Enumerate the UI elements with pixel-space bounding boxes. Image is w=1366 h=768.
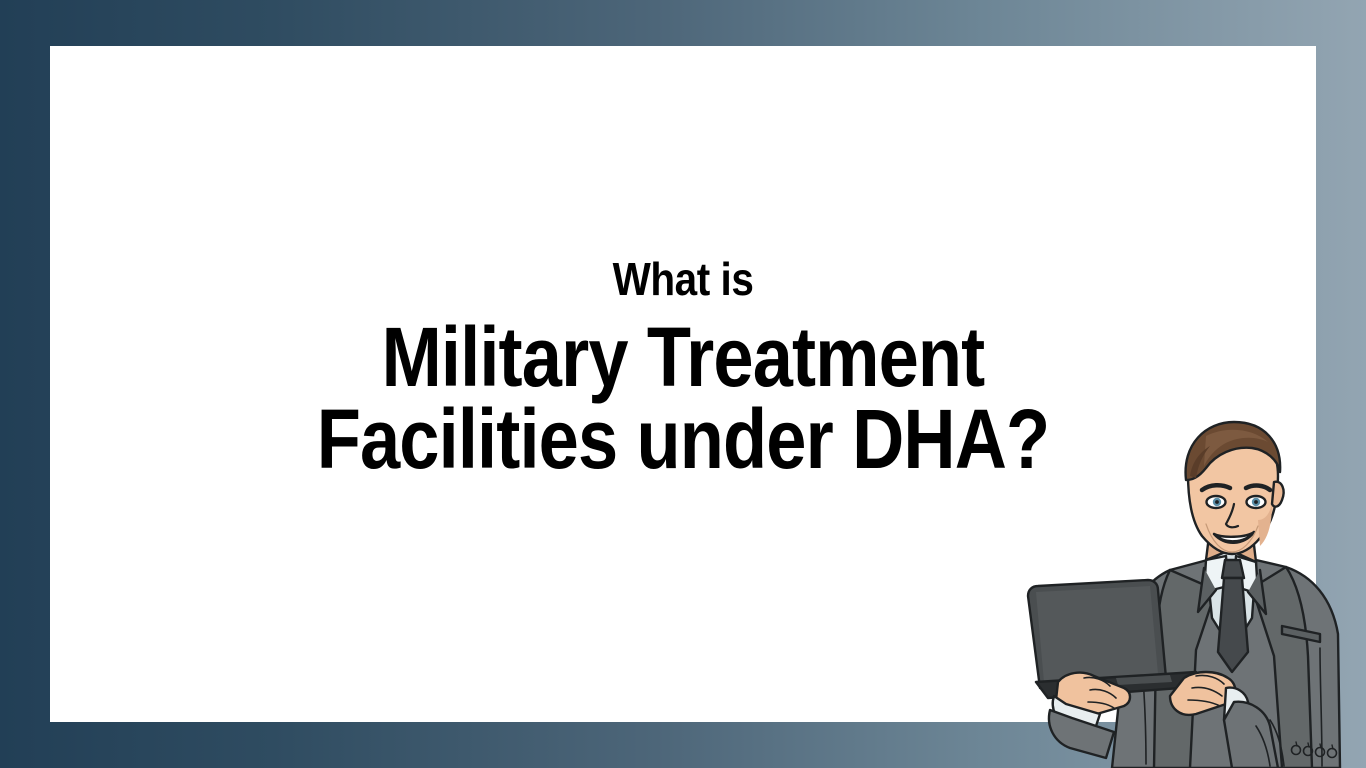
headline-line-2: Facilities under DHA? bbox=[139, 398, 1228, 480]
headline-line-1: Military Treatment bbox=[139, 316, 1228, 398]
eyebrow-text: What is bbox=[126, 256, 1240, 302]
page-title: Military Treatment Facilities under DHA? bbox=[139, 316, 1228, 481]
slide-canvas: What is Military Treatment Facilities un… bbox=[0, 0, 1366, 768]
title-block: What is Military Treatment Facilities un… bbox=[50, 256, 1316, 481]
content-card: What is Military Treatment Facilities un… bbox=[50, 46, 1316, 722]
